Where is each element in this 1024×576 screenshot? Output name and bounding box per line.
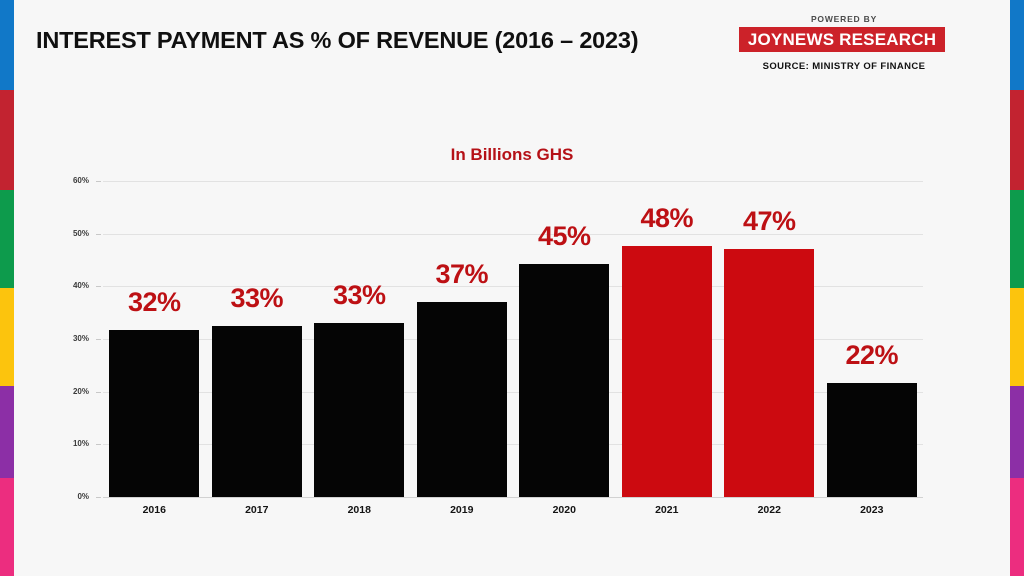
bar-value-label-2021: 48% [610, 203, 725, 234]
y-axis-tick-label: 30% [55, 334, 89, 343]
x-axis-tick-label-2017: 2017 [206, 504, 309, 516]
bar-2017[interactable] [212, 326, 302, 497]
x-axis-tick-label-2021: 2021 [616, 504, 719, 516]
bar-value-label-2019: 37% [405, 259, 520, 290]
x-axis-tick-label-2018: 2018 [308, 504, 411, 516]
gridline-60 [103, 181, 923, 182]
bar-value-label-2023: 22% [815, 340, 930, 371]
bar-2019[interactable] [417, 302, 507, 497]
bar-value-label-2017: 33% [200, 283, 315, 314]
y-axis-tick-label: 50% [55, 229, 89, 238]
y-tick-mark-0 [96, 497, 101, 498]
y-tick-mark-60 [96, 181, 101, 182]
x-axis-tick-label-2023: 2023 [821, 504, 924, 516]
bar-value-label-2018: 33% [302, 280, 417, 311]
x-axis-tick-label-2022: 2022 [718, 504, 821, 516]
bar-2018[interactable] [314, 323, 404, 497]
bar-2020[interactable] [519, 264, 609, 497]
y-axis-tick-label: 10% [55, 439, 89, 448]
y-axis-tick-label: 60% [55, 176, 89, 185]
gridline-0 [103, 497, 923, 498]
bar-value-label-2022: 47% [712, 206, 827, 237]
y-tick-mark-30 [96, 339, 101, 340]
bar-2021[interactable] [622, 246, 712, 497]
y-tick-mark-50 [96, 234, 101, 235]
y-axis-tick-label: 40% [55, 281, 89, 290]
x-axis-tick-label-2020: 2020 [513, 504, 616, 516]
y-axis-tick-label: 20% [55, 387, 89, 396]
slide-canvas: INTEREST PAYMENT AS % OF REVENUE (2016 –… [0, 0, 1024, 576]
bar-2023[interactable] [827, 383, 917, 497]
x-axis-tick-label-2019: 2019 [411, 504, 514, 516]
bar-value-label-2016: 32% [97, 287, 212, 318]
bar-value-label-2020: 45% [507, 221, 622, 252]
bar-chart: 0%10%20%30%40%50%60%32%201633%201733%201… [0, 0, 1024, 576]
bar-2022[interactable] [724, 249, 814, 497]
x-axis-tick-label-2016: 2016 [103, 504, 206, 516]
y-tick-mark-10 [96, 444, 101, 445]
bar-2016[interactable] [109, 330, 199, 497]
y-axis-tick-label: 0% [55, 492, 89, 501]
y-tick-mark-20 [96, 392, 101, 393]
